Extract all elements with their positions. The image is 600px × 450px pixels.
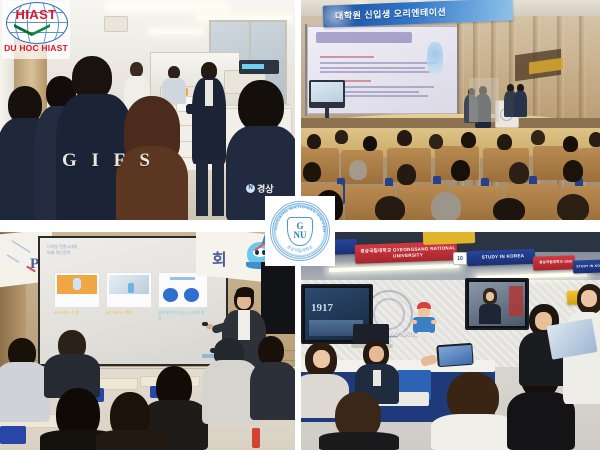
slide-header-text: 디지털 전환시대의미래 혁신전략 bbox=[47, 244, 78, 256]
jacket-mark-icon: N bbox=[246, 184, 255, 193]
classroom-scene: PS 디지털 전환시대의미래 혁신전략 AI 서비스 소개 bbox=[0, 232, 295, 450]
lab-monitor bbox=[239, 60, 279, 74]
fair-banner-1: 경상국립대학교 GYEONGSANG NATIONAL UNIVERSITY bbox=[355, 241, 458, 264]
slide-title-bar bbox=[316, 32, 412, 43]
fair-banner-2: STUDY IN KOREA bbox=[467, 249, 535, 266]
booth-monitor-right bbox=[465, 278, 529, 330]
auditorium-scene: 대학원 신입생 오리엔테이션 bbox=[301, 0, 600, 220]
fair-banner-2-text: STUDY IN KOREA bbox=[478, 254, 525, 261]
monitor-year-text: 1917 bbox=[311, 302, 333, 314]
slide-card-2 bbox=[106, 272, 152, 308]
jacket-watermark-text: 경상 bbox=[257, 182, 274, 195]
hoodie-print: G I F S bbox=[62, 150, 155, 172]
slide-card-3 bbox=[158, 272, 208, 308]
hiast-logo[interactable]: HIAST DU HOC HIAST bbox=[2, 1, 70, 59]
panel-classroom-lecture[interactable]: PS 디지털 전환시대의미래 혁신전략 AI 서비스 소개 bbox=[0, 232, 295, 450]
fair-banner-3-text: 경상국립대학교 GNU bbox=[535, 260, 573, 265]
fair-banner-4: STUDY IN KOREA bbox=[573, 259, 600, 273]
gnu-shield-icon: G NU bbox=[287, 217, 313, 246]
hiast-tagline: DU HOC HIAST bbox=[2, 43, 70, 53]
booth-number: 10 bbox=[453, 252, 467, 265]
panel-auditorium-orientation[interactable]: 대학원 신입생 오리엔테이션 bbox=[301, 0, 600, 220]
water-bottle bbox=[252, 428, 260, 448]
hiast-wordmark: HIAST bbox=[2, 7, 70, 22]
fair-scene: KOREA 경상국립대학교 GYEONGSANG NATIONAL UNIVER… bbox=[301, 232, 600, 450]
wall-tv bbox=[261, 262, 295, 334]
panel-education-fair-booth[interactable]: KOREA 경상국립대학교 GYEONGSANG NATIONAL UNIVER… bbox=[301, 232, 600, 450]
hiast-book-icon bbox=[14, 23, 50, 35]
fair-banner-1-text: 경상국립대학교 GYEONGSANG NATIONAL UNIVERSITY bbox=[355, 245, 457, 260]
slide-caption-2: 5G 서비스 확대 bbox=[106, 310, 150, 315]
smartphone[interactable] bbox=[436, 343, 473, 367]
slide-card-1 bbox=[54, 272, 100, 308]
photo-collage: G I F S N 경상 bbox=[0, 0, 600, 450]
gnu-seal[interactable]: GYEONGSANG NATIONAL UNIVERSITY 경상국립대학교 G… bbox=[265, 196, 335, 266]
backdrop-text-right: 회 bbox=[212, 246, 227, 270]
side-monitor bbox=[309, 80, 345, 108]
slide-caption-1: AI 서비스 소개 bbox=[54, 310, 98, 315]
gnu-monogram-bottom: NU bbox=[294, 231, 307, 240]
fair-banner-3: 경상국립대학교 GNU bbox=[533, 255, 575, 270]
booth-mascot-icon bbox=[411, 302, 437, 340]
slide-caption-3: 글로벌 파트너십 1,200개 이상 bbox=[158, 310, 206, 321]
fair-banner-4-text: STUDY IN KOREA bbox=[572, 264, 600, 269]
jacket-watermark: N 경상 bbox=[246, 182, 274, 195]
